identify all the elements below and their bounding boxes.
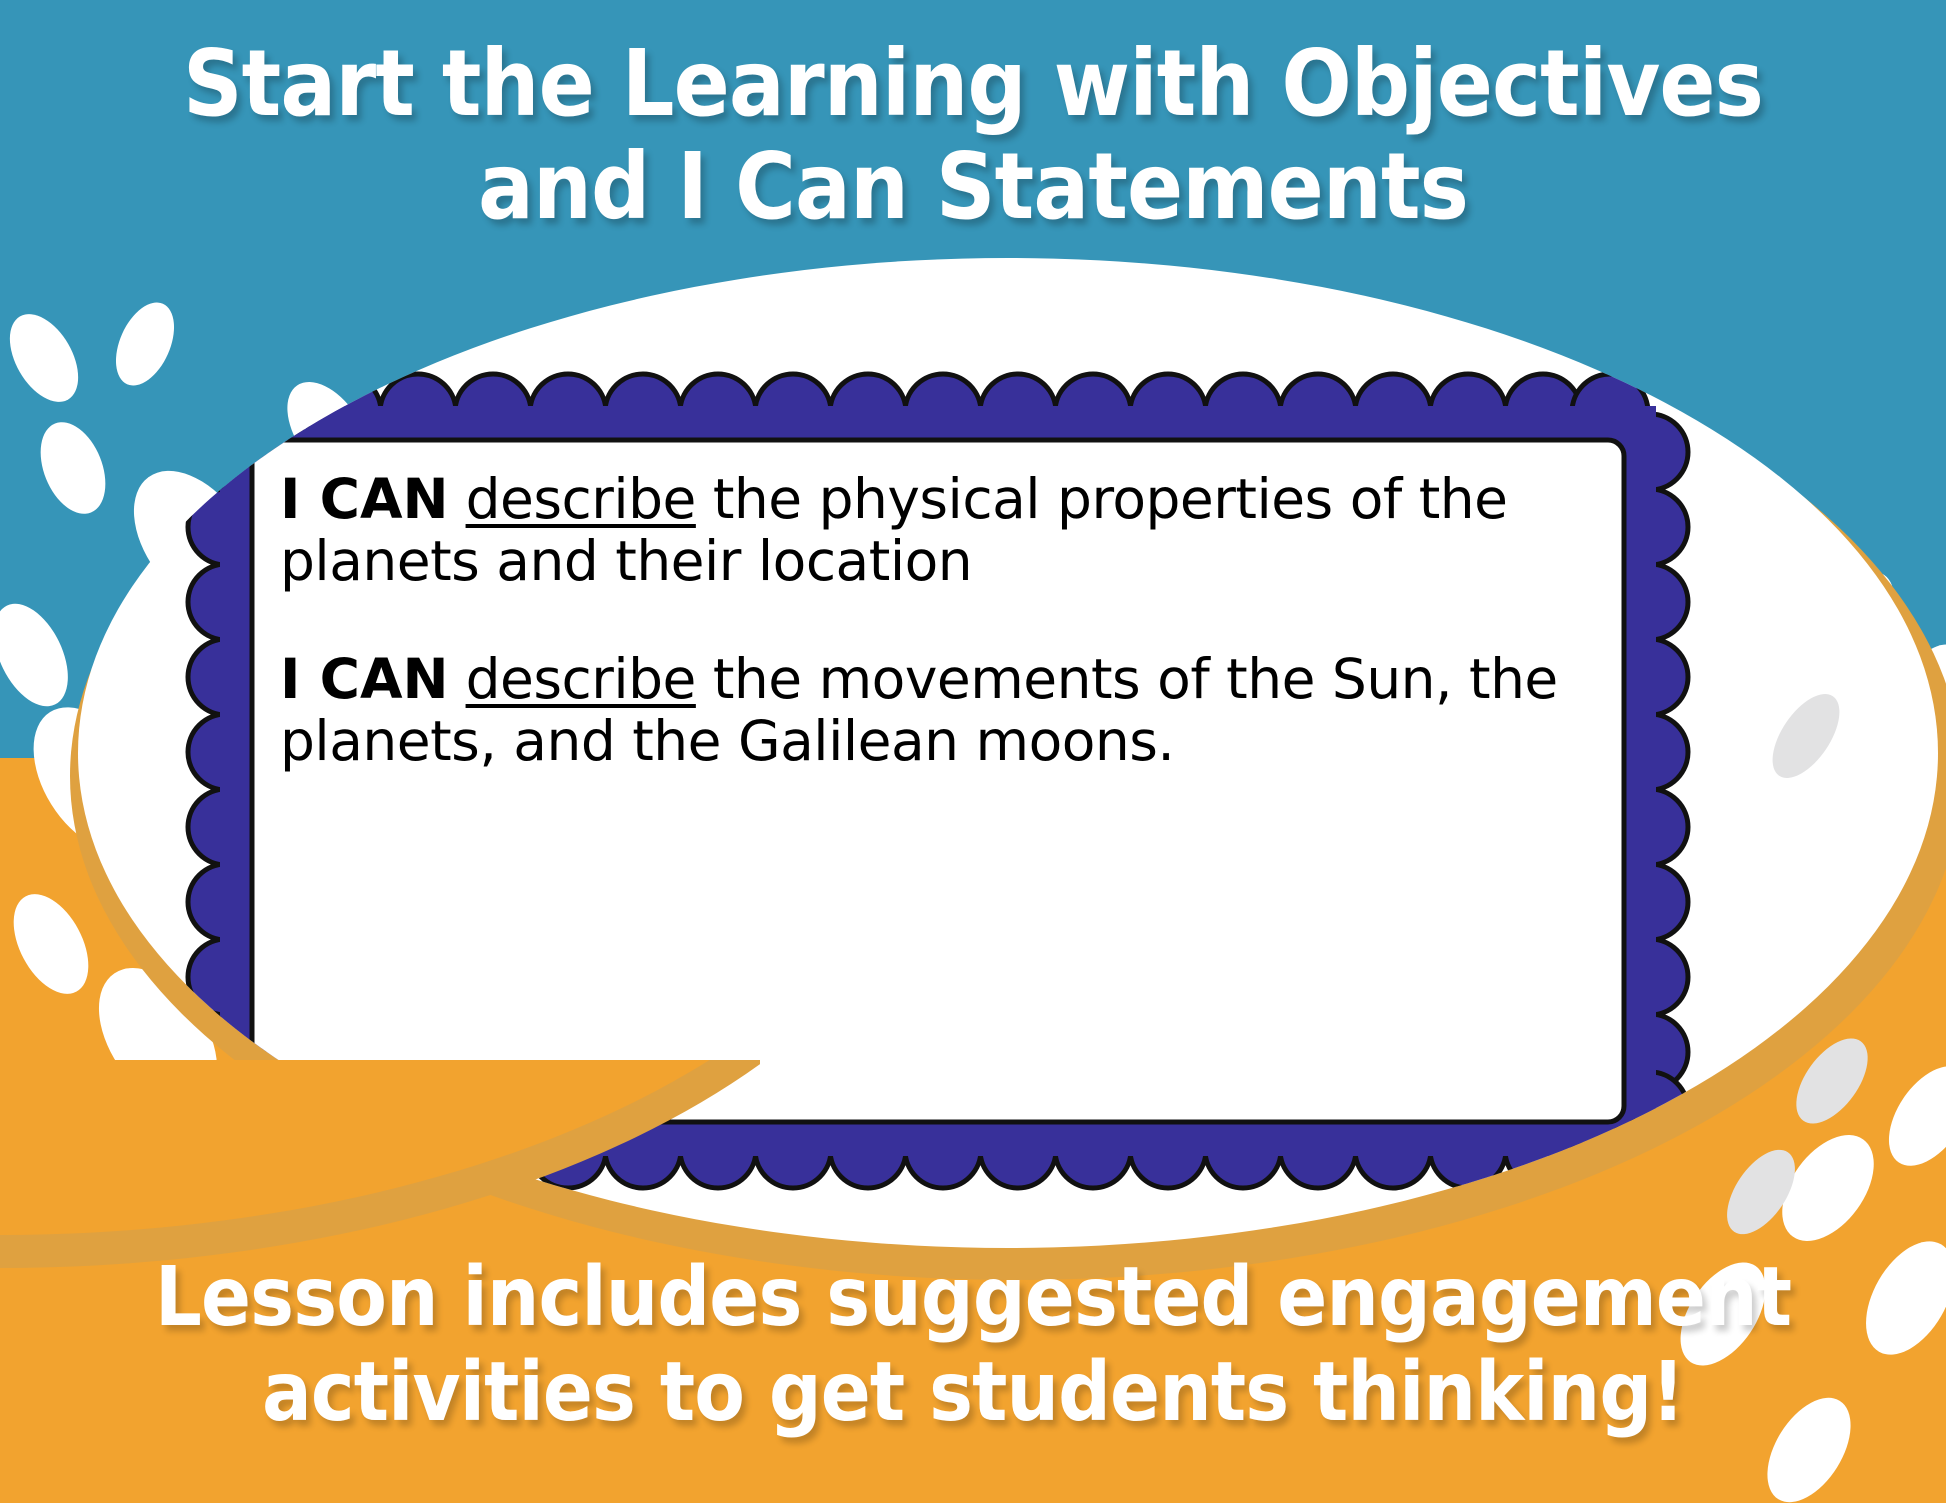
i-can-prefix: I CAN: [280, 647, 449, 711]
i-can-prefix: I CAN: [280, 467, 449, 531]
page-title: Start the Learning with Objectives and I…: [97, 32, 1848, 238]
page-title-line-2: and I Can Statements: [97, 135, 1848, 238]
card-text-block: I CAN describe the physical properties o…: [280, 468, 1570, 773]
slide-canvas: I CAN describe the physical properties o…: [0, 0, 1946, 1503]
statement-gap: [280, 592, 1570, 648]
footer-caption: Lesson includes suggested engagement act…: [97, 1250, 1848, 1440]
footer-caption-line-1: Lesson includes suggested engagement: [97, 1250, 1848, 1345]
i-can-statement-1: I CAN describe the physical properties o…: [280, 468, 1570, 592]
i-can-rest: the physical properties of the planets a…: [280, 467, 1507, 593]
page-title-line-1: Start the Learning with Objectives: [97, 32, 1848, 135]
i-can-verb: describe: [466, 467, 696, 531]
footer-caption-line-2: activities to get students thinking!: [97, 1345, 1848, 1440]
i-can-verb: describe: [466, 647, 696, 711]
i-can-statement-2: I CAN describe the movements of the Sun,…: [280, 648, 1570, 772]
